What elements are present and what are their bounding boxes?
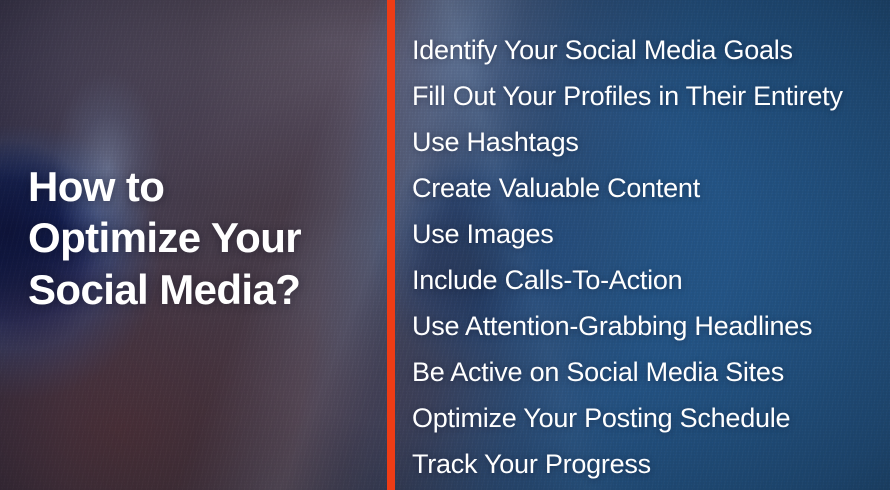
page-title-line-2: Optimize Your xyxy=(28,212,378,263)
page-title: How to Optimize Your Social Media? xyxy=(28,161,378,315)
list-item: Create Valuable Content xyxy=(412,165,890,211)
list-item: Use Images xyxy=(412,211,890,257)
tips-list: Identify Your Social Media Goals Fill Ou… xyxy=(412,27,890,487)
vertical-accent-divider xyxy=(387,0,395,490)
list-item: Fill Out Your Profiles in Their Entirety xyxy=(412,73,890,119)
list-item: Track Your Progress xyxy=(412,441,890,487)
page-title-line-3: Social Media? xyxy=(28,264,378,315)
list-item: Identify Your Social Media Goals xyxy=(412,27,890,73)
list-item: Use Attention-Grabbing Headlines xyxy=(412,303,890,349)
list-item: Include Calls-To-Action xyxy=(412,257,890,303)
social-media-tips-poster: How to Optimize Your Social Media? Ident… xyxy=(0,0,890,490)
page-title-line-1: How to xyxy=(28,161,378,212)
list-item: Use Hashtags xyxy=(412,119,890,165)
list-item: Optimize Your Posting Schedule xyxy=(412,395,890,441)
list-item: Be Active on Social Media Sites xyxy=(412,349,890,395)
